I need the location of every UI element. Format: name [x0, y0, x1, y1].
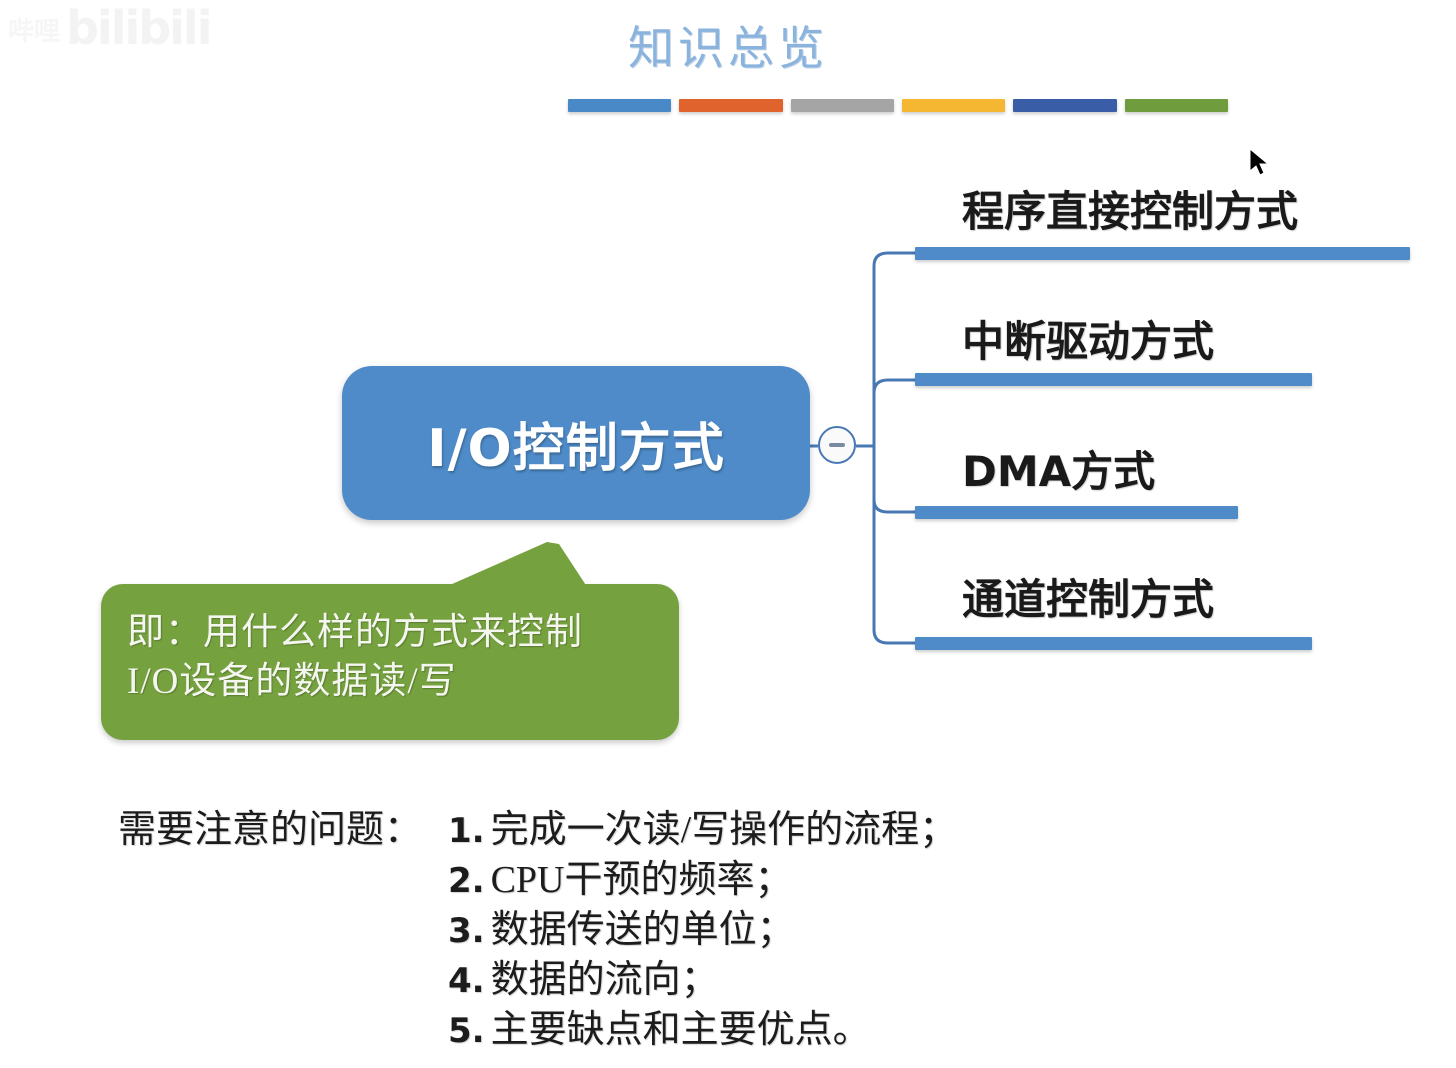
branch-underline-4	[915, 637, 1312, 650]
title-bar-amber	[902, 99, 1005, 112]
notes-item-1-number: 1.	[448, 811, 485, 851]
mindmap-root-node[interactable]: I/O控制方式	[342, 366, 810, 520]
branch-label-3: DMA方式	[962, 438, 1155, 499]
mindmap-root-label: I/O控制方式	[427, 406, 725, 481]
notes-item-5-number: 5.	[448, 1011, 485, 1051]
notes-item-3: 3.数据传送的单位；	[448, 906, 957, 956]
notes-item-5-text: 主要缺点和主要优点。	[491, 1009, 871, 1051]
notes-item-4: 4.数据的流向；	[448, 956, 957, 1006]
title-bar-blue	[568, 99, 671, 112]
notes-item-1: 1.完成一次读/写操作的流程；	[448, 806, 957, 856]
branch-label-1: 程序直接控制方式	[962, 178, 1298, 239]
notes-item-2: 2.CPU干预的频率；	[448, 856, 957, 906]
minus-icon	[829, 443, 845, 447]
notes-item-2-text: CPU干预的频率；	[491, 859, 793, 901]
title-bar-green	[1125, 99, 1228, 112]
branch-underline-1	[915, 247, 1410, 260]
branch-underline-2	[915, 373, 1312, 386]
notes-list: 1.完成一次读/写操作的流程； 2.CPU干预的频率； 3.数据传送的单位； 4…	[448, 806, 957, 1056]
notes-item-3-number: 3.	[448, 911, 485, 951]
notes-lead-label: 需要注意的问题：	[118, 806, 448, 855]
mouse-cursor-icon	[1249, 148, 1271, 178]
notes-item-3-text: 数据传送的单位；	[491, 909, 795, 951]
notes-item-4-number: 4.	[448, 961, 485, 1001]
callout-text: 即：用什么样的方式来控制 I/O设备的数据读/写	[127, 608, 667, 706]
title-bar-orange	[679, 99, 782, 112]
callout-line-1: 即：用什么样的方式来控制	[127, 608, 667, 657]
presentation-slide: 哔哩 bilibili 知识总览 I/O控制方式 程序	[0, 0, 1456, 1068]
notes-item-2-number: 2.	[448, 861, 485, 901]
slide-title: 知识总览	[0, 12, 1456, 78]
notes-item-4-text: 数据的流向；	[491, 959, 719, 1001]
title-bar-dark-blue	[1013, 99, 1116, 112]
notes-item-5: 5.主要缺点和主要优点。	[448, 1006, 957, 1056]
callout-line-2: I/O设备的数据读/写	[127, 657, 667, 706]
branch-label-4: 通道控制方式	[962, 566, 1214, 627]
title-decor-bars	[568, 99, 1228, 115]
notes-item-1-text: 完成一次读/写操作的流程；	[491, 809, 958, 851]
branch-underline-3	[915, 506, 1238, 519]
title-bar-gray	[791, 99, 894, 112]
callout-pointer	[425, 534, 600, 604]
collapse-toggle-button[interactable]	[818, 426, 856, 464]
notes-block: 需要注意的问题： 1.完成一次读/写操作的流程； 2.CPU干预的频率； 3.数…	[118, 806, 957, 1056]
branch-label-2: 中断驱动方式	[962, 308, 1214, 369]
